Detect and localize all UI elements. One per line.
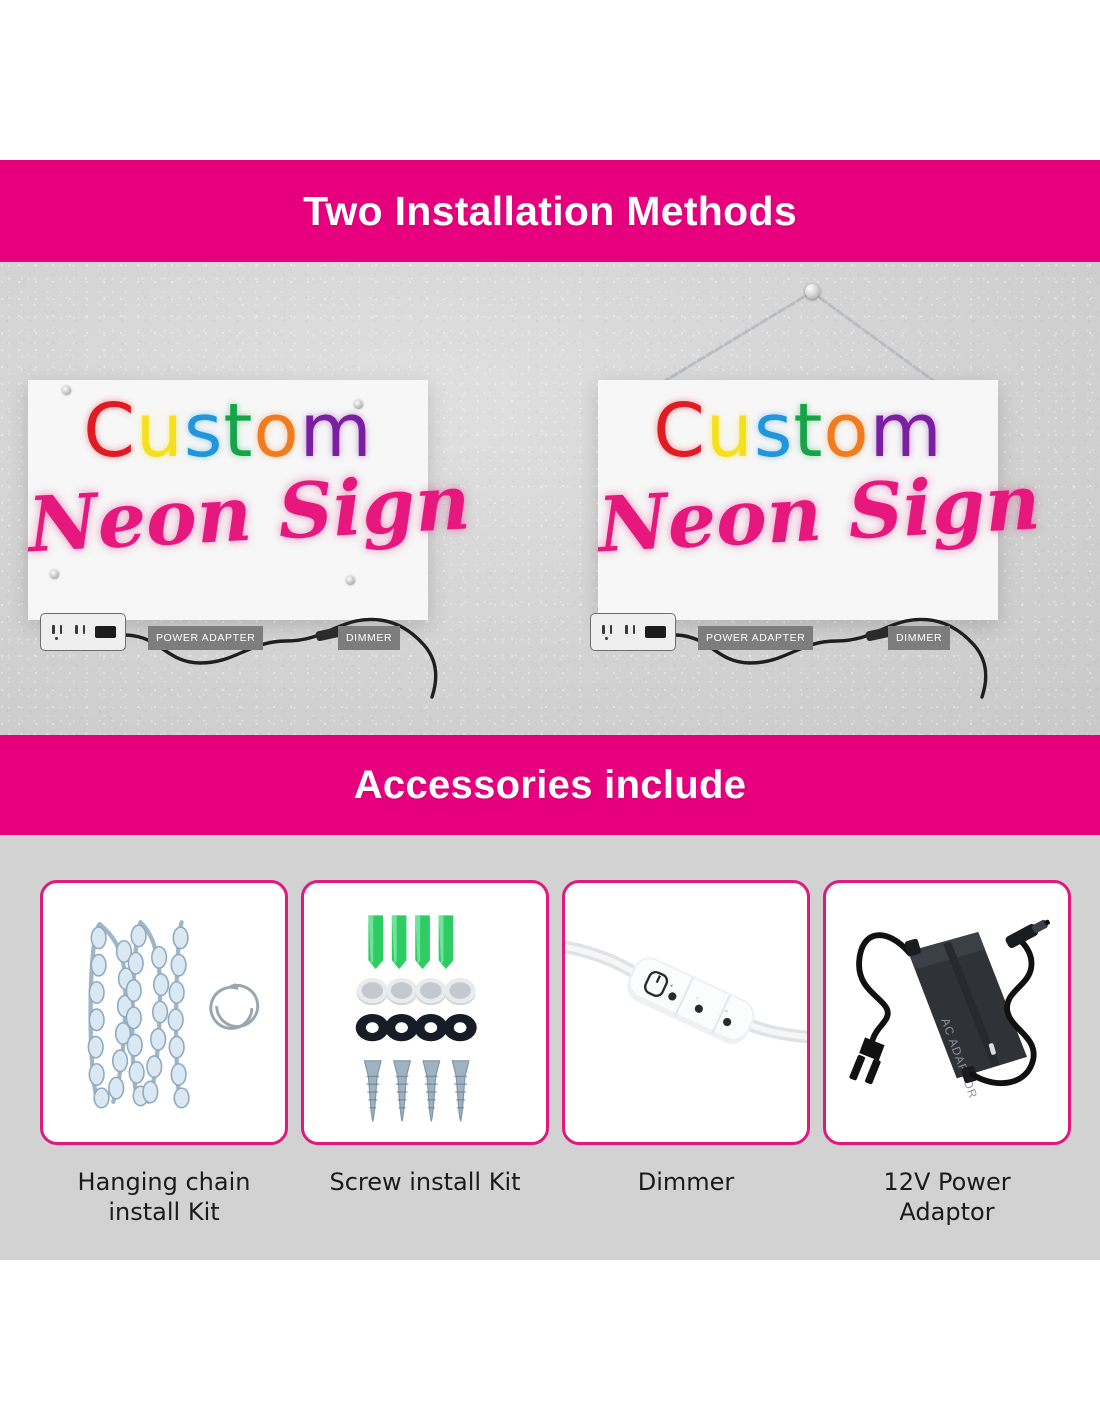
wall-nail-icon [805, 284, 820, 299]
accessory-card[interactable]: + - ~ [562, 880, 810, 1145]
mount-screw-icon [50, 570, 59, 579]
accessory-caption-line1: Hanging chain [40, 1167, 288, 1197]
accessories-grid: Hanging chain install Kit [40, 880, 1060, 1227]
accessory-caption: Screw install Kit [301, 1167, 549, 1197]
neon-word-custom-left: Custom [28, 394, 428, 468]
cable-label-dimmer: DIMMER [338, 626, 400, 650]
method-chain-hang: Custom Neon Sign POWER ADAPTER DIMMER [550, 262, 1100, 735]
neon-letter-u: u [706, 394, 754, 468]
method-screw-mount: Custom Neon Sign POWER ADAPT [0, 262, 550, 735]
chain-coil-icon [43, 883, 285, 1142]
neon-word-neon-sign-right: Neon Sign [596, 465, 1000, 566]
installation-banner-title: Two Installation Methods [303, 188, 797, 235]
neon-letter-o: o [253, 394, 299, 468]
neon-letter-c: C [653, 394, 706, 468]
accessory-item-power-adaptor: AC ADAPTOR [823, 880, 1071, 1227]
mount-screw-icon [346, 576, 355, 585]
neon-word-neon-sign-left: Neon Sign [26, 465, 430, 566]
accessory-caption-line1: Screw install Kit [301, 1167, 549, 1197]
accessory-card[interactable] [301, 880, 549, 1145]
accessory-item-dimmer: + - ~ Dimmer [562, 880, 810, 1227]
accessory-caption-line1: Dimmer [562, 1167, 810, 1197]
neon-letter-t: t [223, 394, 253, 468]
accessories-banner-title: Accessories include [354, 763, 747, 808]
accessory-card[interactable]: AC ADAPTOR [823, 880, 1071, 1145]
ac-adaptor-icon: AC ADAPTOR [826, 883, 1068, 1142]
wall-outlet-icon [590, 613, 676, 651]
neon-letter-s: s [754, 394, 794, 468]
inline-dimmer-icon: + - ~ [565, 883, 807, 1142]
wall-outlet-icon [40, 613, 126, 651]
cable-label-power-adapter: POWER ADAPTER [148, 626, 263, 650]
cable-label-dimmer: DIMMER [888, 626, 950, 650]
neon-sign-left: Custom Neon Sign [28, 380, 428, 620]
installation-banner: Two Installation Methods [0, 160, 1100, 262]
neon-letter-o: o [823, 394, 869, 468]
accessory-caption: Dimmer [562, 1167, 810, 1197]
accessory-caption-line1: 12V Power [823, 1167, 1071, 1197]
mount-screw-icon [354, 400, 363, 409]
accessories-panel: Hanging chain install Kit [0, 835, 1100, 1260]
neon-word-custom-right: Custom [598, 394, 998, 468]
accessory-card[interactable] [40, 880, 288, 1145]
accessories-banner: Accessories include [0, 735, 1100, 835]
neon-sign-right: Custom Neon Sign [598, 380, 998, 620]
accessory-caption: 12V Power Adaptor [823, 1167, 1071, 1227]
installation-methods-panel: Custom Neon Sign POWER ADAPT [0, 262, 1100, 735]
accessory-item-hanging-chain: Hanging chain install Kit [40, 880, 288, 1227]
accessory-caption: Hanging chain install Kit [40, 1167, 288, 1227]
screw-kit-icon [304, 883, 546, 1142]
neon-sign-right-text: Custom Neon Sign [598, 380, 998, 620]
accessory-item-screw-kit: Screw install Kit [301, 880, 549, 1227]
mount-screw-icon [62, 386, 71, 395]
neon-letter-t: t [793, 394, 823, 468]
neon-letter-s: s [184, 394, 224, 468]
neon-letter-u: u [136, 394, 184, 468]
neon-letter-c: C [83, 394, 136, 468]
cable-label-power-adapter: POWER ADAPTER [698, 626, 813, 650]
accessory-caption-line2: install Kit [40, 1197, 288, 1227]
accessory-caption-line2: Adaptor [823, 1197, 1071, 1227]
neon-letter-m: m [870, 394, 943, 468]
neon-sign-left-text: Custom Neon Sign [28, 380, 428, 620]
infographic-page: Two Installation Methods Custom Neon Sig… [0, 0, 1100, 1422]
